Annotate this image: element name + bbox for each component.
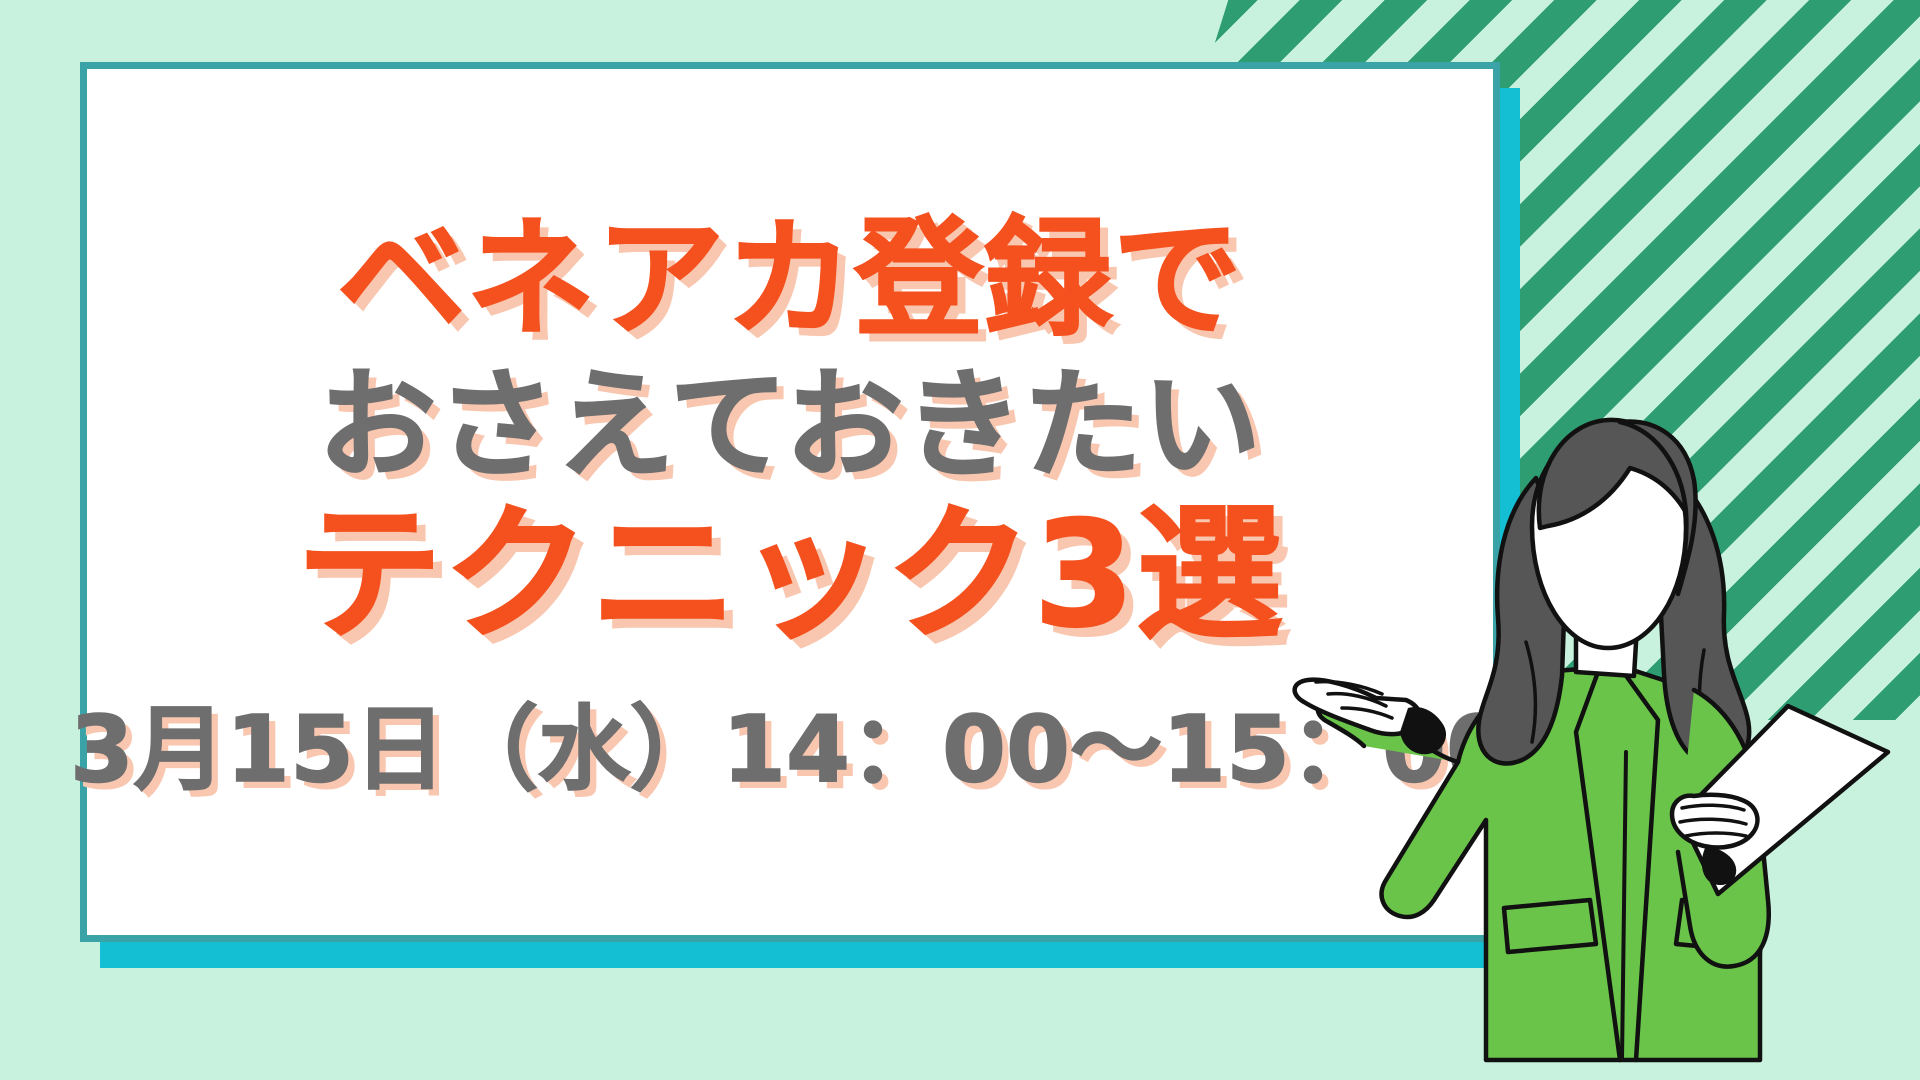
banner-canvas: ベネアカ登録で おさえておきたい テクニック3選 3月15日（水）14：00～1… — [0, 0, 1920, 1080]
woman-presenter-illustration — [1290, 360, 1920, 1080]
content-card — [80, 62, 1500, 942]
